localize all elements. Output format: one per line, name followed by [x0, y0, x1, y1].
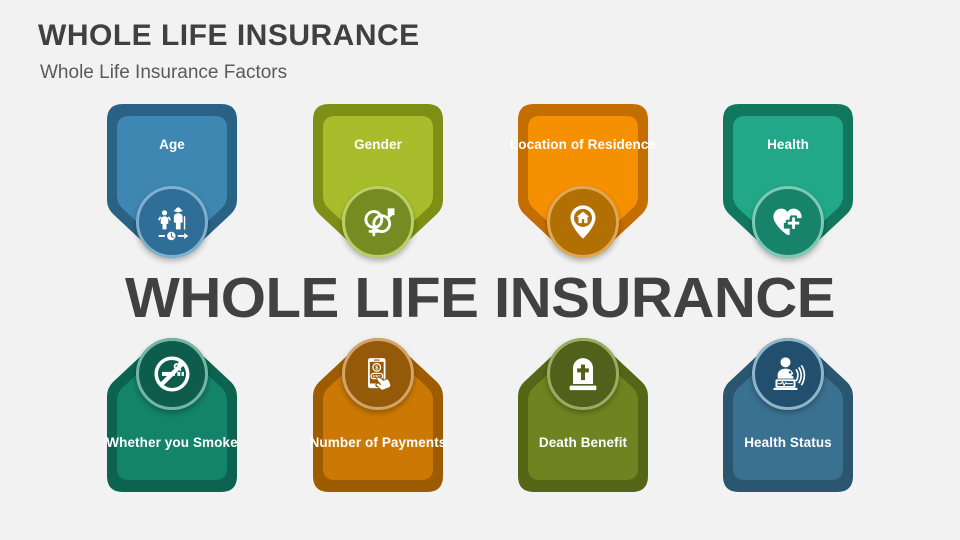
- icon-badge-gender[interactable]: [342, 186, 414, 258]
- icon-badge-health-status[interactable]: [752, 338, 824, 410]
- card-number-of-payments[interactable]: Number of Payments $ PAY: [303, 336, 453, 500]
- center-headline: WHOLE LIFE INSURANCE: [0, 265, 960, 331]
- gender-symbols-icon: [347, 191, 409, 253]
- patient-monitor-icon: [757, 343, 819, 405]
- icon-badge-age[interactable]: [136, 186, 208, 258]
- page-title: WHOLE LIFE INSURANCE: [38, 19, 420, 53]
- heart-plus-icon: [757, 191, 819, 253]
- card-whether-you-smoke[interactable]: Whether you Smoke: [97, 336, 247, 500]
- icon-badge-payments[interactable]: $ PAY: [342, 338, 414, 410]
- icon-badge-health[interactable]: [752, 186, 824, 258]
- card-location-of-residence[interactable]: Location of Residence: [508, 96, 658, 260]
- card-health[interactable]: Health: [713, 96, 863, 260]
- mobile-pay-hand-icon: $ PAY: [347, 343, 409, 405]
- card-age[interactable]: Age: [97, 96, 247, 260]
- icon-badge-death-benefit[interactable]: [547, 338, 619, 410]
- age-timeline-icon: [141, 191, 203, 253]
- card-gender[interactable]: Gender: [303, 96, 453, 260]
- no-smoking-icon: [141, 343, 203, 405]
- tombstone-cross-icon: [552, 343, 614, 405]
- icon-badge-location[interactable]: [547, 186, 619, 258]
- page-subtitle: Whole Life Insurance Factors: [40, 62, 287, 84]
- card-death-benefit[interactable]: Death Benefit: [508, 336, 658, 500]
- location-home-pin-icon: [552, 191, 614, 253]
- card-health-status[interactable]: Health Status: [713, 336, 863, 500]
- icon-badge-smoke[interactable]: [136, 338, 208, 410]
- svg-text:$: $: [375, 365, 378, 371]
